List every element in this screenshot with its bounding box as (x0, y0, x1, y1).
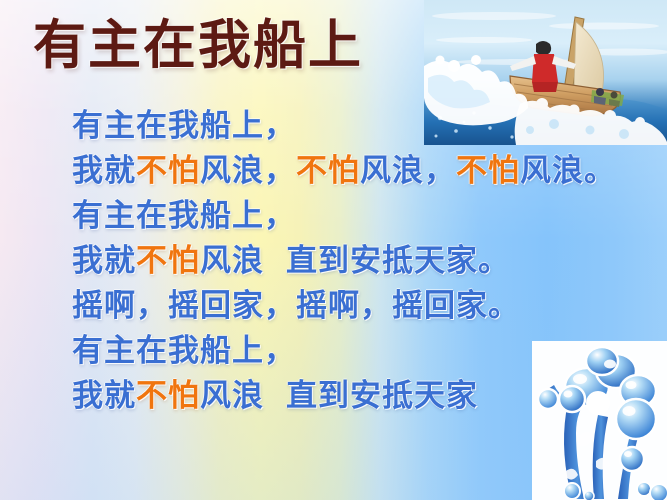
lyrics-text: 我就 (72, 378, 136, 414)
lyrics-line-5: 摇啊，摇回家，摇啊，摇回家。 (72, 284, 662, 329)
lyrics-text: 有主在我船上， (72, 198, 296, 234)
lyrics-highlight-text: 不怕 (136, 378, 200, 414)
lyrics-text: 我就 (72, 243, 136, 279)
lyrics-text: 风浪， (200, 153, 296, 189)
lyrics-text: 直到安抵天家。 (286, 243, 510, 279)
lyrics-highlight-text: 不怕 (136, 243, 200, 279)
lyrics-text: 有主在我船上， (72, 333, 296, 369)
lyrics-line-3: 有主在我船上， (72, 194, 662, 239)
page-title: 有主在我船上 (33, 18, 363, 74)
lyrics-text: 风浪 (200, 243, 264, 279)
lyrics-text: 风浪 (200, 378, 264, 414)
lyrics-text: 有主在我船上， (72, 108, 296, 144)
lyrics-text: 风浪。 (520, 153, 616, 189)
lyrics-highlight-text: 不怕 (456, 153, 520, 189)
lyrics-line-2: 我就不怕风浪，不怕风浪，不怕风浪。 (72, 149, 662, 194)
slide-canvas: 有主在我船上 (0, 0, 667, 500)
lyrics-text: 摇啊，摇回家，摇啊，摇回家。 (72, 288, 520, 324)
lyrics-highlight-text: 不怕 (296, 153, 360, 189)
blue-bubble-flower-illustration (532, 341, 667, 500)
lyrics-text: 直到安抵天家 (286, 378, 478, 414)
lyrics-line-1: 有主在我船上， (72, 104, 662, 149)
lyrics-highlight-text: 不怕 (136, 153, 200, 189)
lyrics-text: 风浪， (360, 153, 456, 189)
blue-bubble-decoration-image (532, 341, 667, 500)
lyrics-text: 我就 (72, 153, 136, 189)
lyrics-line-4: 我就不怕风浪直到安抵天家。 (72, 239, 662, 284)
